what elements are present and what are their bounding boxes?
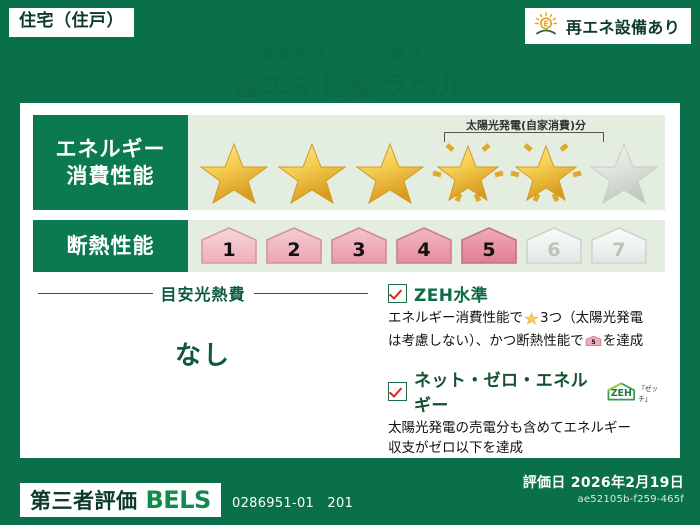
bels-logo-label: BELS (146, 486, 211, 514)
energy-performance-title: エネルギー 消費性能 (33, 115, 188, 210)
zeh-desc-part3: を達成 (603, 333, 644, 349)
label-subtitle: 建築物省エネ法に基づく (0, 44, 700, 65)
star-rating (188, 121, 662, 205)
energy-cost-heading: 目安光熱費 (38, 281, 368, 305)
energy-cost-value: なし (38, 335, 368, 372)
house-badge-icon-inline: 5 (585, 334, 602, 355)
star-icon (274, 133, 350, 205)
zeh-desc-part1: エネルギー消費性能で (388, 310, 523, 326)
evaluation-date: 評価日 2026年2月19日 (523, 472, 684, 492)
insulation-level-badge: 2 (263, 226, 325, 266)
insulation-level-number: 5 (458, 239, 520, 261)
insulation-level-badge-inactive: 7 (588, 226, 650, 266)
star-icon-solar (430, 133, 506, 205)
solar-sun-icon: E (533, 12, 559, 40)
energy-cost-block: 目安光熱費 なし (38, 281, 368, 372)
insulation-level-number: 6 (523, 239, 585, 261)
insulation-level-number: 1 (198, 239, 260, 261)
zeh-logo-icon: ZEH 「ゼッチ」 (605, 379, 666, 404)
zeh-logo-ruby: 「ゼッチ」 (638, 384, 666, 404)
star-icon-empty (586, 133, 662, 205)
net-zero-energy-description: 太陽光発電の売電分も含めてエネルギー 収支がゼロ以下を達成 (388, 419, 666, 458)
star-icon (352, 133, 428, 205)
insulation-level-badge: 5 (458, 226, 520, 266)
label-title: 省エネ性能ラベル (0, 64, 700, 104)
star-icon-inline (524, 310, 539, 332)
zeh-desc-star-text: 3つ（太陽光発電 (540, 310, 643, 326)
energy-title-line2: 消費性能 (67, 163, 155, 189)
checkbox-checked-icon (388, 382, 407, 401)
insulation-performance-row: 断熱性能 1 (33, 220, 665, 272)
insulation-level-badge-inactive: 6 (523, 226, 585, 266)
zeh-standard-item: ZEH水準 エネルギー消費性能で3つ（太陽光発電 は考慮しない）、かつ断熱性能で… (388, 281, 666, 354)
svg-text:5: 5 (591, 339, 595, 346)
third-party-label: 第三者評価 (30, 485, 138, 515)
energy-performance-row: エネルギー 消費性能 太陽光発電(自家消費)分 (33, 115, 665, 210)
footer-bar: 第三者評価 BELS 0286951-01 201 評価日 2026年2月19日… (0, 473, 700, 525)
insulation-performance-body: 1 2 (188, 220, 665, 272)
net-zero-energy-title: ネット・ゼロ・エネルギー (414, 366, 594, 416)
category-tag: 住宅（住戸） (8, 7, 135, 38)
nze-desc-part2: 収支がゼロ以下を達成 (388, 440, 523, 456)
checkbox-checked-icon (388, 284, 407, 303)
star-icon (196, 133, 272, 205)
nze-desc-part1: 太陽光発電の売電分も含めてエネルギー (388, 420, 631, 436)
zeh-standard-header: ZEH水準 (388, 281, 666, 306)
energy-performance-body: 太陽光発電(自家消費)分 (188, 115, 665, 210)
insulation-level-number: 7 (588, 239, 650, 261)
insulation-level-badge: 3 (328, 226, 390, 266)
label-card: エネルギー 消費性能 太陽光発電(自家消費)分 (20, 103, 680, 458)
solar-annotation-label: 太陽光発電(自家消費)分 (436, 117, 616, 133)
net-zero-energy-item: ネット・ゼロ・エネルギー ZEH 「ゼッチ」 太陽光発電の売電分も含めてエネルギ… (388, 366, 666, 458)
divider-left (38, 293, 153, 294)
net-zero-energy-header: ネット・ゼロ・エネルギー ZEH 「ゼッチ」 (388, 366, 666, 416)
divider-right (254, 293, 369, 294)
zeh-desc-part2: は考慮しない）、かつ断熱性能で (388, 333, 584, 349)
energy-cost-heading-label: 目安光熱費 (161, 281, 246, 305)
zeh-criteria-block: ZEH水準 エネルギー消費性能で3つ（太陽光発電 は考慮しない）、かつ断熱性能で… (388, 281, 666, 470)
zeh-standard-title: ZEH水準 (414, 281, 488, 306)
svg-text:E: E (543, 19, 548, 28)
star-icon-solar (508, 133, 584, 205)
energy-title-line1: エネルギー (56, 136, 166, 162)
energy-performance-label: 住宅（住戸） E 再エネ設備あり 建築物省エネ法に基づく 省エネ性能ラベル (0, 0, 700, 525)
bels-certification-badge: 第三者評価 BELS (20, 483, 221, 517)
evaluation-info: 評価日 2026年2月19日 ae52105b-f259-465f (523, 472, 684, 505)
renewable-equipment-badge: E 再エネ設備あり (524, 7, 692, 45)
insulation-level-badge: 4 (393, 226, 455, 266)
insulation-level-number: 3 (328, 239, 390, 261)
evaluation-id: ae52105b-f259-465f (523, 494, 684, 505)
insulation-performance-title: 断熱性能 (33, 220, 188, 272)
insulation-level-badge: 1 (198, 226, 260, 266)
svg-text:ZEH: ZEH (610, 388, 631, 399)
insulation-level-number: 2 (263, 239, 325, 261)
insulation-level-scale: 1 2 (188, 226, 650, 266)
renewable-badge-label: 再エネ設備あり (566, 14, 680, 38)
bels-number: 0286951-01 201 (232, 496, 353, 511)
insulation-level-number: 4 (393, 239, 455, 261)
zeh-standard-description: エネルギー消費性能で3つ（太陽光発電 は考慮しない）、かつ断熱性能で5を達成 (388, 309, 666, 354)
